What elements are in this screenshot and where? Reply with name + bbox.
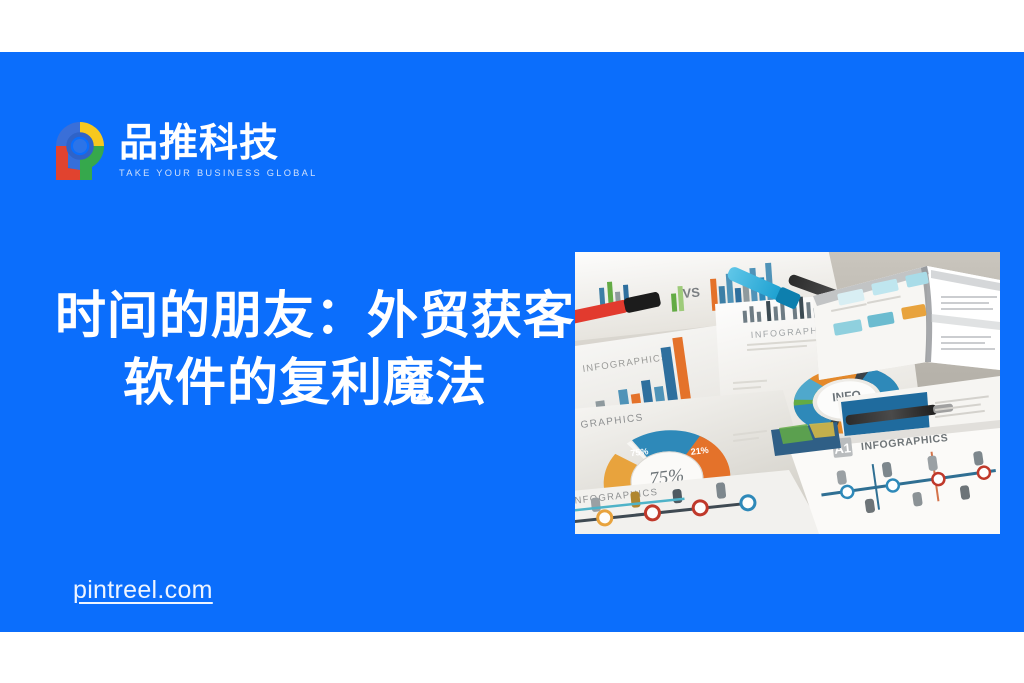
photo-artwork: VS (575, 252, 1000, 534)
slide-canvas: VS (0, 0, 1024, 683)
brand-tagline: TAKE YOUR BUSINESS GLOBAL (119, 168, 318, 178)
brand-logo[interactable]: 品推科技 TAKE YOUR BUSINESS GLOBAL (52, 118, 318, 184)
slide-body: VS (0, 52, 1024, 632)
page-title: 时间的朋友：外贸获客 软件的复利魔法 (55, 284, 555, 419)
page-title-line-2: 软件的复利魔法 (55, 351, 555, 418)
brand-name: 品推科技 (119, 124, 318, 165)
pintreel-p-mark-icon (52, 118, 110, 184)
infographic-reports-desk-photo: VS (575, 252, 1000, 534)
brand-logo-text: 品推科技 TAKE YOUR BUSINESS GLOBAL (119, 124, 318, 178)
photo-vs-label: VS (682, 285, 701, 301)
site-link[interactable]: pintreel.com (73, 576, 213, 605)
page-title-line-1: 时间的朋友：外贸获客 (55, 284, 555, 351)
